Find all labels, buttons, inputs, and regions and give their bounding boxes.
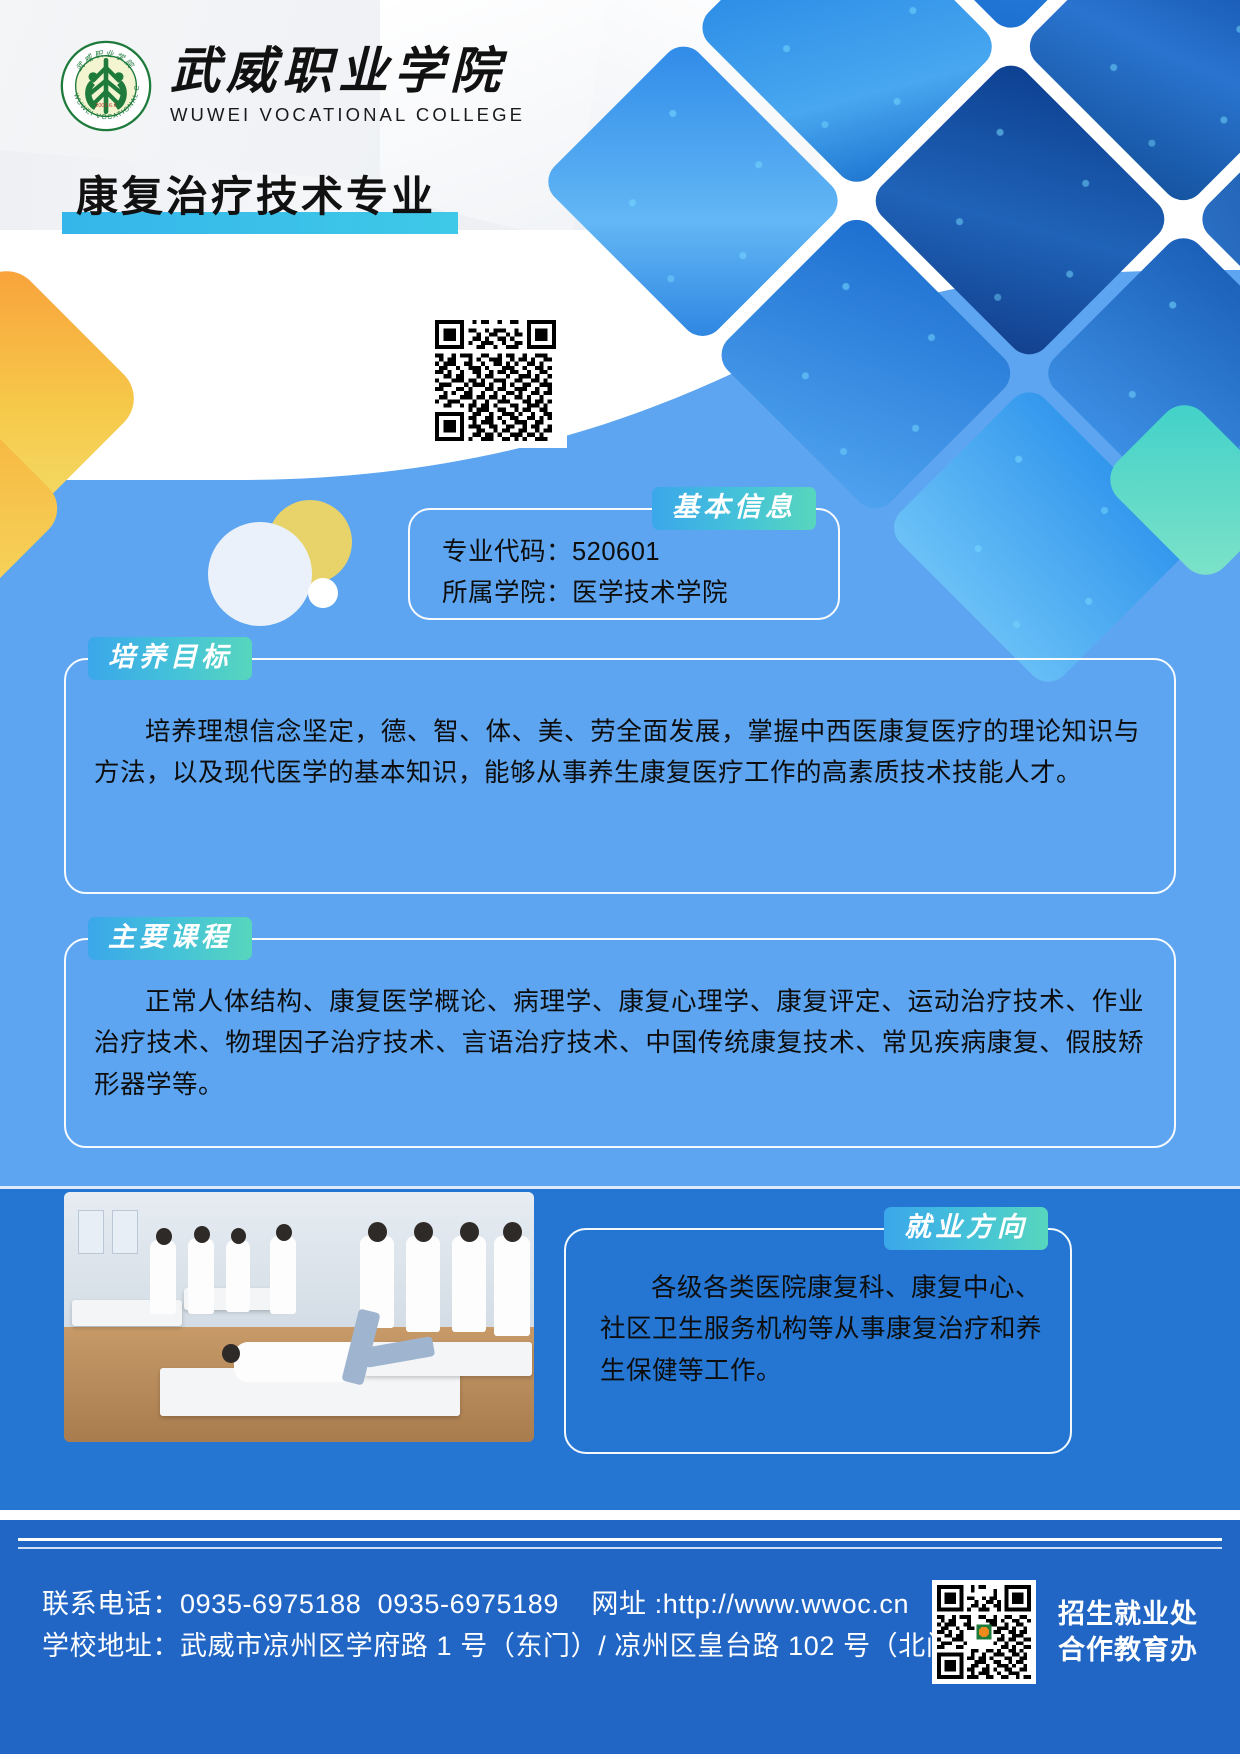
photo-student-head xyxy=(194,1226,210,1243)
photo-student-head xyxy=(231,1228,246,1244)
footer-divider-thin xyxy=(18,1547,1222,1549)
training-goal-text: 培养理想信念坚定，德、智、体、美、劳全面发展，掌握中西医康复医疗的理论知识与方法… xyxy=(66,660,1174,795)
decor-circle-white xyxy=(208,522,312,626)
photo-patient-head xyxy=(222,1344,240,1363)
college-seal-icon: 2003.6.6 WUWEI VOCATIONAL COLLEGE 武威职业学院 xyxy=(60,40,152,132)
basic-info-badge: 基本信息 xyxy=(652,487,816,530)
photo-student xyxy=(270,1236,296,1314)
main-courses-card: 主要课程 正常人体结构、康复医学概论、病理学、康复心理学、康复评定、运动治疗技术… xyxy=(64,938,1176,1148)
logo-text-english: WUWEI VOCATIONAL COLLEGE xyxy=(170,104,525,126)
photo-wall-chart xyxy=(112,1210,138,1254)
footer-qr-code[interactable] xyxy=(932,1580,1036,1684)
photo-student-head xyxy=(156,1228,172,1245)
phone-number-1[interactable]: 0935-6975188 xyxy=(180,1589,361,1619)
logo-text-chinese: 武威职业学院 xyxy=(170,46,525,96)
photo-student xyxy=(226,1240,250,1312)
photo-student-head xyxy=(503,1222,522,1242)
footer-contact-block: 联系电话：0935-6975188 0935-6975189 网址 :http:… xyxy=(42,1584,981,1668)
college-logo: 2003.6.6 WUWEI VOCATIONAL COLLEGE 武威职业学院… xyxy=(60,40,525,132)
dept-line-1: 招生就业处 xyxy=(1058,1596,1198,1632)
employment-card: 就业方向 各级各类医院康复科、康复中心、社区卫生服务机构等从事康复治疗和养生保健… xyxy=(564,1228,1072,1454)
employment-badge: 就业方向 xyxy=(884,1207,1048,1250)
address-value: 武威市凉州区学府路 1 号（东门）/ 凉州区皇台路 102 号（北门） xyxy=(180,1631,981,1661)
footer-phone-line: 联系电话：0935-6975188 0935-6975189 网址 :http:… xyxy=(42,1584,981,1626)
poster-header: 2003.6.6 WUWEI VOCATIONAL COLLEGE 武威职业学院… xyxy=(0,0,1240,250)
footer-department-block: 招生就业处 合作教育办 xyxy=(932,1580,1198,1684)
program-qr-code[interactable] xyxy=(424,313,567,448)
major-code-line: 专业代码：520601 xyxy=(442,532,838,573)
basic-info-card: 基本信息 专业代码：520601 所属学院：医学技术学院 xyxy=(408,508,840,620)
decor-circle-small xyxy=(308,578,338,608)
address-label: 学校地址： xyxy=(42,1631,180,1661)
qr-code-icon xyxy=(937,1585,1031,1679)
footer-address-line: 学校地址：武威市凉州区学府路 1 号（东门）/ 凉州区皇台路 102 号（北门） xyxy=(42,1626,981,1668)
photo-student xyxy=(406,1236,440,1332)
photo-student xyxy=(494,1236,530,1336)
photo-student xyxy=(452,1236,486,1332)
photo-wall-chart xyxy=(78,1210,104,1254)
phone-label: 联系电话： xyxy=(42,1589,180,1619)
footer-divider-thick xyxy=(18,1538,1222,1541)
website-label: 网址 : xyxy=(591,1589,662,1619)
main-courses-text: 正常人体结构、康复医学概论、病理学、康复心理学、康复评定、运动治疗技术、作业治疗… xyxy=(66,940,1174,1106)
lower-band-divider xyxy=(0,1186,1240,1189)
svg-text:2003.6.6: 2003.6.6 xyxy=(95,103,116,109)
photo-student xyxy=(150,1240,176,1314)
qr-code-icon xyxy=(431,320,560,441)
dept-line-2: 合作教育办 xyxy=(1058,1632,1198,1668)
photo-student-head xyxy=(414,1222,433,1242)
school-line: 所属学院：医学技术学院 xyxy=(442,573,838,614)
photo-student-head xyxy=(460,1222,479,1242)
practice-photo xyxy=(64,1192,534,1442)
page-title: 康复治疗技术专业 xyxy=(62,176,450,218)
footer-department-text: 招生就业处 合作教育办 xyxy=(1058,1596,1198,1669)
phone-number-2[interactable]: 0935-6975189 xyxy=(378,1589,559,1619)
training-goal-badge: 培养目标 xyxy=(88,637,252,680)
website-url[interactable]: http://www.wwoc.cn xyxy=(663,1589,909,1619)
main-courses-badge: 主要课程 xyxy=(88,917,252,960)
photo-student xyxy=(188,1238,214,1314)
employment-text: 各级各类医院康复科、康复中心、社区卫生服务机构等从事康复治疗和养生保健等工作。 xyxy=(566,1230,1070,1392)
photo-student-head xyxy=(368,1222,387,1242)
poster-footer: 联系电话：0935-6975188 0935-6975189 网址 :http:… xyxy=(0,1520,1240,1754)
poster-canvas: 2003.6.6 WUWEI VOCATIONAL COLLEGE 武威职业学院… xyxy=(0,0,1240,1754)
training-goal-card: 培养目标 培养理想信念坚定，德、智、体、美、劳全面发展，掌握中西医康复医疗的理论… xyxy=(64,658,1176,894)
program-title-block: 康复治疗技术专业 xyxy=(62,176,450,218)
photo-student-head xyxy=(276,1224,292,1241)
